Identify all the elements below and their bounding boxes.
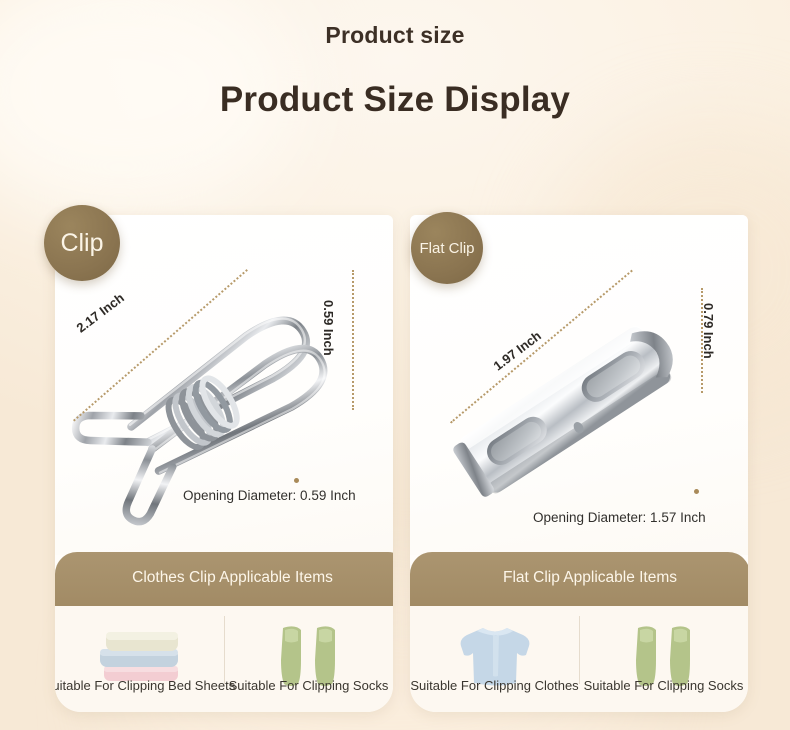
measure-endpoint-dot [294, 478, 299, 483]
applicable-item-socks: Suitable For Clipping Socks [579, 606, 748, 712]
badge-flat-clip: Flat Clip [411, 212, 483, 284]
applicable-item-socks: Suitable For Clipping Socks [224, 606, 393, 712]
opening-diameter-note-flat-clip: Opening Diameter: 1.57 Inch [533, 510, 706, 525]
applicable-item-caption: Suitable For Clipping Bed Sheets [55, 678, 235, 693]
badge-flat-clip-label: Flat Clip [419, 240, 474, 257]
applicable-items-banner-flat-clip: Flat Clip Applicable Items [410, 552, 748, 606]
width-dimension-label-flat-clip: 0.79 Inch [701, 303, 716, 359]
page-title: Product Size Display [0, 80, 790, 120]
applicable-item-bed-sheets: Suitable For Clipping Bed Sheets [55, 606, 224, 712]
measure-endpoint-dot [694, 489, 699, 494]
applicable-item-caption: Suitable For Clipping Clothes [410, 678, 578, 693]
applicable-items-row-clip: Suitable For Clipping Bed Sheets Suitabl… [55, 606, 393, 712]
product-card-flat-clip: Flat Clip Applicable Items Suitable For … [410, 215, 748, 712]
applicable-items-row-flat-clip: Suitable For Clipping Clothes Suitable F… [410, 606, 748, 712]
section-kicker: Product size [0, 22, 790, 49]
badge-clip: Clip [44, 205, 120, 281]
badge-clip-label: Clip [60, 229, 103, 258]
width-measure-line-clip [352, 270, 354, 410]
applicable-item-caption: Suitable For Clipping Socks [229, 678, 389, 693]
product-size-infographic: Product size Product Size Display [0, 0, 790, 730]
width-dimension-label-clip: 0.59 Inch [321, 300, 336, 356]
applicable-item-caption: Suitable For Clipping Socks [584, 678, 744, 693]
applicable-items-banner-clip: Clothes Clip Applicable Items [55, 552, 393, 606]
opening-diameter-note-clip: Opening Diameter: 0.59 Inch [183, 488, 356, 503]
applicable-item-clothes: Suitable For Clipping Clothes [410, 606, 579, 712]
